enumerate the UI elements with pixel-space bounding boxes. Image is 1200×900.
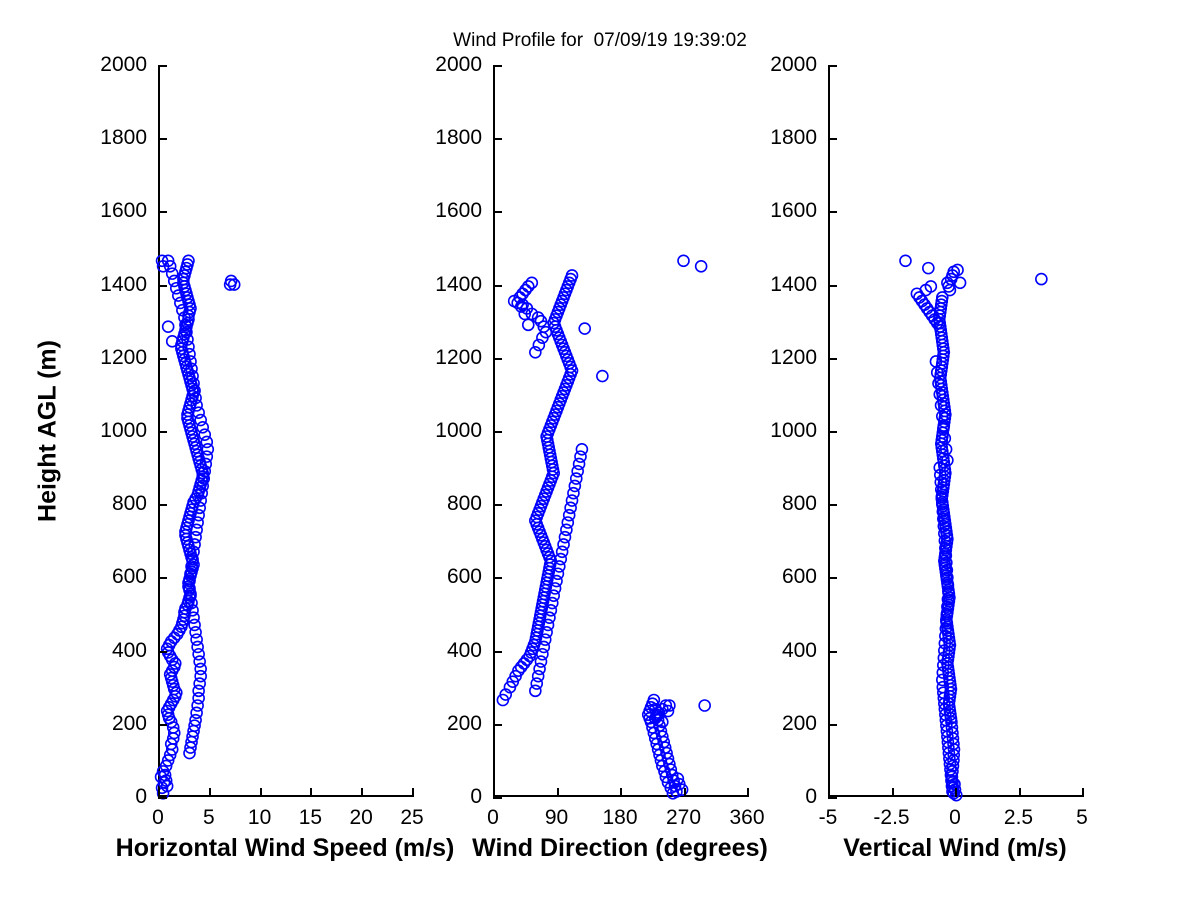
panel-wind-direction: Wind Direction (degrees) 020040060080010… [493, 65, 747, 797]
x-tick-label: 0 [487, 806, 499, 830]
x-tick-mark [260, 788, 262, 797]
data-point [678, 255, 689, 266]
data-point [1036, 274, 1047, 285]
data-point [572, 466, 583, 477]
y-tick-label: 400 [112, 639, 147, 663]
x-tick-label: 180 [602, 806, 637, 830]
data-point [565, 502, 576, 513]
y-tick-mark [493, 724, 502, 726]
y-tick-mark [493, 138, 502, 140]
data-point [699, 700, 710, 711]
data-point [576, 444, 587, 455]
y-tick-mark [828, 65, 837, 67]
y-tick-mark [158, 358, 167, 360]
y-tick-mark [158, 724, 167, 726]
data-point [559, 532, 570, 543]
data-point [163, 321, 174, 332]
y-tick-label: 1400 [770, 273, 817, 297]
data-point [534, 663, 545, 674]
data-point [193, 407, 204, 418]
y-tick-mark [828, 724, 837, 726]
x-tick-mark [620, 788, 622, 797]
x-tick-label: 0 [152, 806, 164, 830]
x-tick-mark [684, 788, 686, 797]
data-point [519, 658, 530, 669]
data-point [561, 524, 572, 535]
y-tick-mark [493, 651, 502, 653]
x-tick-mark [209, 788, 211, 797]
x-tick-label: 20 [350, 806, 373, 830]
data-point [201, 436, 212, 447]
y-tick-label: 1400 [435, 273, 482, 297]
x-tick-mark [955, 788, 957, 797]
data-point [923, 263, 934, 274]
y-tick-mark [493, 65, 502, 67]
y-tick-label: 600 [447, 565, 482, 589]
y-tick-mark [493, 358, 502, 360]
y-tick-label: 1600 [435, 199, 482, 223]
y-tick-mark [158, 577, 167, 579]
x-tick-mark [310, 788, 312, 797]
y-tick-label: 1800 [770, 126, 817, 150]
x-axis-label-wind-direction: Wind Direction (degrees) [472, 834, 768, 863]
y-axis-label: Height AGL (m) [34, 340, 63, 522]
y-tick-mark [828, 358, 837, 360]
y-tick-label: 1000 [100, 419, 147, 443]
y-tick-mark [158, 504, 167, 506]
y-tick-label: 800 [447, 492, 482, 516]
y-tick-mark [828, 431, 837, 433]
y-tick-mark [158, 797, 167, 799]
data-point [199, 429, 210, 440]
y-tick-label: 800 [782, 492, 817, 516]
data-point [564, 510, 575, 521]
y-tick-label: 2000 [100, 53, 147, 77]
data-point [900, 255, 911, 266]
scatter-layer-wind-direction [493, 65, 747, 797]
x-tick-label: 2.5 [1004, 806, 1033, 830]
y-tick-mark [828, 211, 837, 213]
wind-profile-figure: Wind Profile for 07/09/19 19:39:02 Heigh… [0, 0, 1200, 900]
y-tick-label: 2000 [770, 53, 817, 77]
data-point [197, 422, 208, 433]
data-point [538, 641, 549, 652]
x-tick-mark [158, 788, 160, 797]
y-tick-label: 1200 [770, 346, 817, 370]
data-point [558, 539, 569, 550]
data-point [557, 546, 568, 557]
y-tick-mark [493, 211, 502, 213]
x-tick-mark [412, 788, 414, 797]
y-tick-mark [828, 651, 837, 653]
y-tick-label: 200 [112, 712, 147, 736]
data-point [696, 261, 707, 272]
x-tick-label: 15 [299, 806, 322, 830]
y-tick-label: 400 [782, 639, 817, 663]
data-point [579, 323, 590, 334]
y-tick-mark [493, 797, 502, 799]
scatter-layer-horizontal-wind-speed [158, 65, 412, 797]
data-point [523, 319, 534, 330]
y-tick-label: 600 [112, 565, 147, 589]
x-tick-label: 90 [545, 806, 568, 830]
y-tick-label: 400 [447, 639, 482, 663]
x-axis-label-horizontal-wind-speed: Horizontal Wind Speed (m/s) [116, 834, 455, 863]
x-tick-label: 0 [949, 806, 961, 830]
data-point [537, 649, 548, 660]
x-tick-label: 5 [1076, 806, 1088, 830]
panel-horizontal-wind-speed: Horizontal Wind Speed (m/s) 020040060080… [158, 65, 412, 797]
x-axis-label-vertical-wind: Vertical Wind (m/s) [843, 834, 1066, 863]
data-point [597, 371, 608, 382]
y-tick-label: 1200 [100, 346, 147, 370]
data-point [517, 288, 528, 299]
data-point [516, 662, 527, 673]
data-point [167, 336, 178, 347]
data-point [195, 415, 206, 426]
data-point [575, 451, 586, 462]
data-point [568, 488, 579, 499]
y-tick-label: 1800 [100, 126, 147, 150]
data-point [535, 656, 546, 667]
y-tick-label: 1800 [435, 126, 482, 150]
y-tick-label: 600 [782, 565, 817, 589]
x-tick-label: -2.5 [873, 806, 909, 830]
y-tick-label: 1000 [770, 419, 817, 443]
panel-vertical-wind: Vertical Wind (m/s) 02004006008001000120… [828, 65, 1082, 797]
y-tick-mark [158, 65, 167, 67]
x-tick-label: -5 [819, 806, 838, 830]
y-tick-mark [158, 138, 167, 140]
y-tick-label: 0 [470, 785, 482, 809]
y-tick-label: 200 [782, 712, 817, 736]
y-tick-label: 0 [135, 785, 147, 809]
data-point [574, 458, 585, 469]
page-title: Wind Profile for 07/09/19 19:39:02 [0, 30, 1200, 52]
data-point [571, 473, 582, 484]
y-tick-label: 2000 [435, 53, 482, 77]
data-point [567, 495, 578, 506]
y-tick-mark [828, 504, 837, 506]
y-tick-mark [828, 285, 837, 287]
x-tick-mark [828, 788, 830, 797]
x-tick-mark [361, 788, 363, 797]
x-tick-mark [493, 788, 495, 797]
y-tick-mark [158, 285, 167, 287]
x-tick-mark [892, 788, 894, 797]
x-tick-mark [557, 788, 559, 797]
data-point [520, 285, 531, 296]
y-tick-mark [493, 285, 502, 287]
data-point [533, 671, 544, 682]
data-point [530, 685, 541, 696]
y-tick-mark [828, 138, 837, 140]
x-tick-mark [1082, 788, 1084, 797]
data-point [533, 312, 544, 323]
y-tick-mark [828, 577, 837, 579]
y-tick-label: 1200 [435, 346, 482, 370]
y-tick-mark [828, 797, 837, 799]
y-tick-label: 1000 [435, 419, 482, 443]
y-tick-mark [493, 431, 502, 433]
x-tick-label: 25 [400, 806, 423, 830]
x-tick-mark [1019, 788, 1021, 797]
y-tick-label: 200 [447, 712, 482, 736]
data-point [562, 517, 573, 528]
y-tick-label: 1400 [100, 273, 147, 297]
y-tick-mark [158, 431, 167, 433]
scatter-layer-vertical-wind [828, 65, 1082, 797]
y-tick-label: 1600 [770, 199, 817, 223]
data-point [531, 678, 542, 689]
data-point [567, 270, 578, 281]
x-tick-mark [747, 788, 749, 797]
data-point [167, 268, 178, 279]
y-tick-mark [158, 211, 167, 213]
x-tick-label: 360 [729, 806, 764, 830]
x-tick-label: 10 [248, 806, 271, 830]
x-tick-label: 5 [203, 806, 215, 830]
data-point [569, 480, 580, 491]
y-tick-label: 1600 [100, 199, 147, 223]
y-tick-mark [493, 504, 502, 506]
y-tick-label: 800 [112, 492, 147, 516]
x-tick-label: 270 [666, 806, 701, 830]
y-tick-mark [493, 577, 502, 579]
y-tick-mark [158, 651, 167, 653]
y-tick-label: 0 [805, 785, 817, 809]
